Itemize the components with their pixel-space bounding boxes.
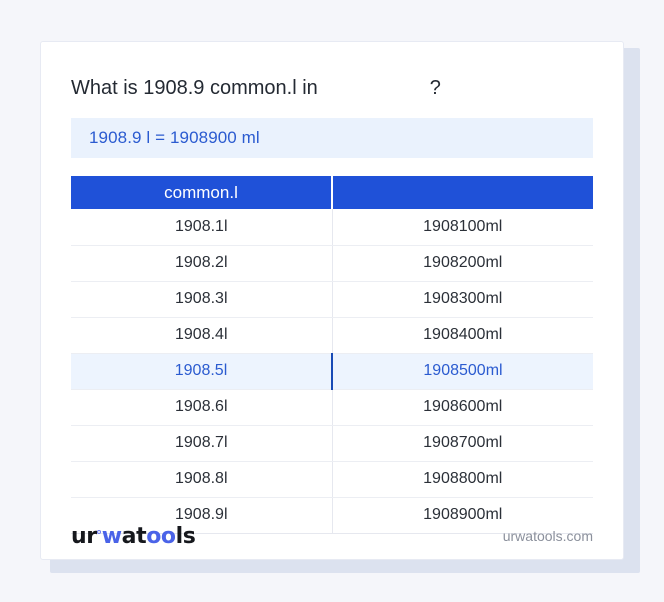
table-row[interactable]: 1908.1l 1908100ml [71, 209, 593, 245]
cell-to: 1908800ml [332, 461, 593, 497]
site-logo[interactable]: urwatools [71, 524, 196, 549]
page-title-prefix: What is 1908.9 common.l in [71, 75, 318, 101]
cell-from: 1908.5l [71, 353, 332, 389]
logo-part-ur: ur [71, 524, 97, 549]
table-header-row: common.l [71, 176, 593, 209]
table-row[interactable]: 1908.2l 1908200ml [71, 245, 593, 281]
cell-from: 1908.2l [71, 245, 332, 281]
cell-to: 1908500ml [332, 353, 593, 389]
cell-to: 1908400ml [332, 317, 593, 353]
cell-to: 1908200ml [332, 245, 593, 281]
cell-from: 1908.6l [71, 389, 332, 425]
table-header-to [332, 176, 593, 209]
cell-from: 1908.1l [71, 209, 332, 245]
table-row[interactable]: 1908.7l 1908700ml [71, 425, 593, 461]
answer-text: 1908.9 l = 1908900 ml [89, 128, 260, 148]
logo-glasses-oo-icon: oo [146, 524, 175, 549]
table-row[interactable]: 1908.3l 1908300ml [71, 281, 593, 317]
cell-to: 1908100ml [332, 209, 593, 245]
cell-from: 1908.4l [71, 317, 332, 353]
cell-to: 1908700ml [332, 425, 593, 461]
page-root: What is 1908.9 common.l in? 1908.9 l = 1… [0, 0, 664, 602]
page-title-suffix: ? [430, 75, 441, 101]
cell-from: 1908.7l [71, 425, 332, 461]
table-row[interactable]: 1908.6l 1908600ml [71, 389, 593, 425]
logo-dot-icon [97, 530, 101, 534]
table-head: common.l [71, 176, 593, 209]
conversion-card: What is 1908.9 common.l in? 1908.9 l = 1… [40, 41, 624, 560]
answer-banner: 1908.9 l = 1908900 ml [71, 118, 593, 158]
table-body: 1908.1l 1908100ml 1908.2l 1908200ml 1908… [71, 209, 593, 533]
table-header-from: common.l [71, 176, 332, 209]
conversion-table: common.l 1908.1l 1908100ml 1908.2l 19082… [71, 176, 593, 534]
table-row[interactable]: 1908.4l 1908400ml [71, 317, 593, 353]
cell-to: 1908600ml [332, 389, 593, 425]
footer-domain: urwatools.com [503, 528, 593, 544]
table-row-highlighted[interactable]: 1908.5l 1908500ml [71, 353, 593, 389]
card-footer: urwatools urwatools.com [71, 513, 593, 559]
logo-part-ls: ls [176, 524, 196, 549]
logo-part-w: w [102, 524, 122, 549]
cell-to: 1908300ml [332, 281, 593, 317]
cell-from: 1908.3l [71, 281, 332, 317]
page-title: What is 1908.9 common.l in? [71, 42, 593, 101]
table-row[interactable]: 1908.8l 1908800ml [71, 461, 593, 497]
cell-from: 1908.8l [71, 461, 332, 497]
logo-part-at: at [122, 524, 147, 549]
